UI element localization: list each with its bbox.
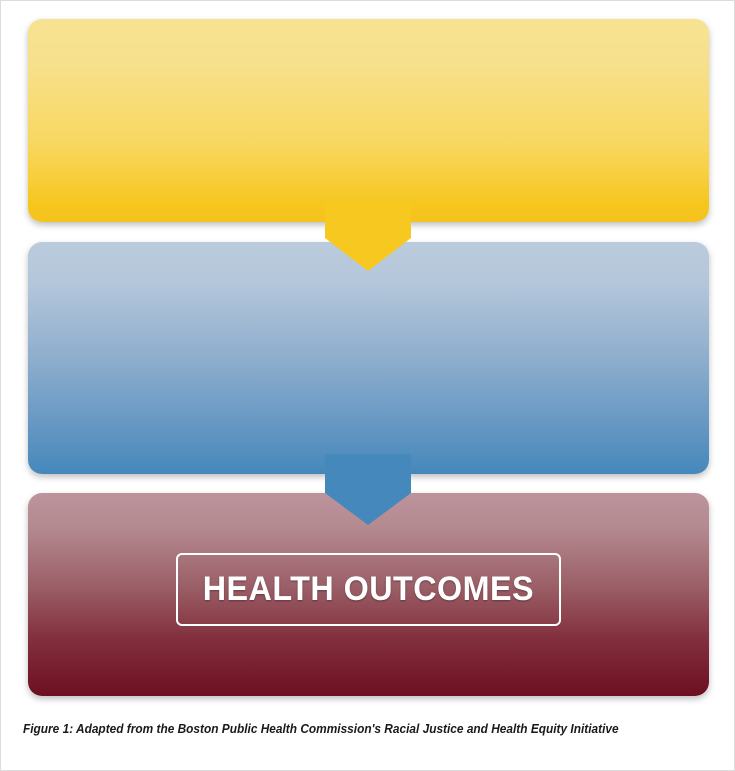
arrow-down-blue-stem (325, 454, 411, 493)
arrow-down-yellow-stem (325, 201, 411, 238)
tier-social-determinants (28, 242, 709, 474)
arrow-down-yellow-icon (325, 238, 411, 271)
health-outcomes-plaque: HEALTH OUTCOMES (176, 553, 561, 626)
tier-health-outcomes-title: HEALTH OUTCOMES (203, 570, 534, 609)
tier-oppression (28, 19, 709, 222)
arrow-down-blue-icon (325, 493, 411, 525)
figure-caption: Figure 1: Adapted from the Boston Public… (23, 722, 679, 736)
figure-canvas: OPPRESSION Xenophobia Classism Homophobi… (0, 0, 735, 771)
